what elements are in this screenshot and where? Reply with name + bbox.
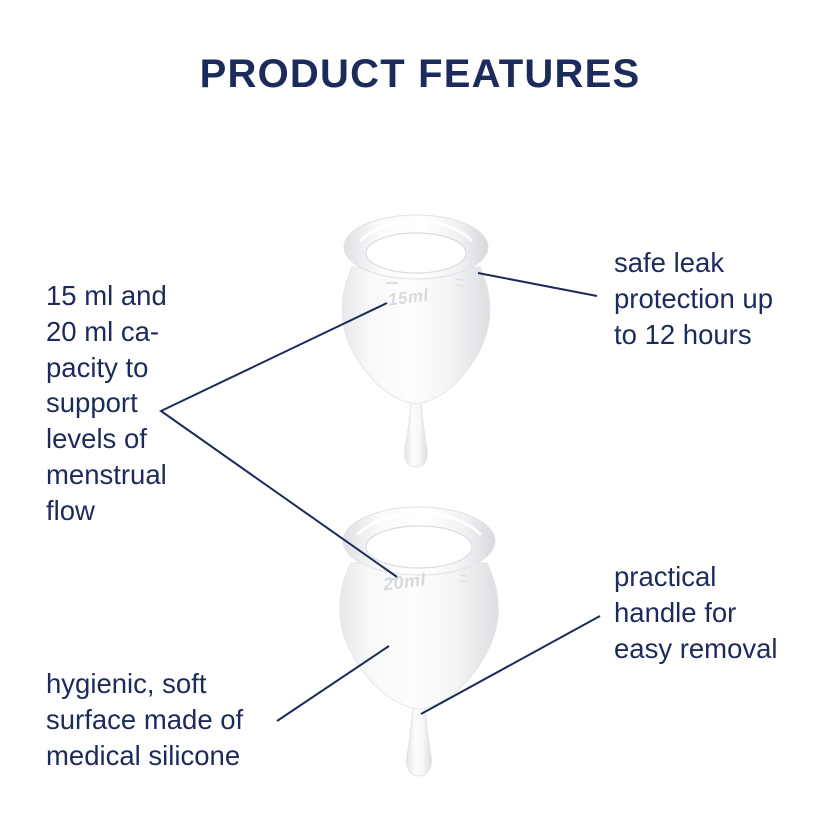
cup-rim-inner <box>366 526 472 568</box>
callout-handle: practical handle for easy removal <box>614 559 829 666</box>
callout-hygienic: hygienic, soft surface made of medical s… <box>46 666 296 773</box>
cup-stem <box>407 704 432 776</box>
callout-capacity: 15 ml and 20 ml ca- pacity to support le… <box>46 278 236 528</box>
page-title: PRODUCT FEATURES <box>0 52 840 96</box>
cup-rim-inner <box>366 233 466 273</box>
cup-stem <box>405 400 428 467</box>
callout-leak-protection: safe leak protection up to 12 hours <box>614 245 829 352</box>
product-image-cup-15ml <box>330 205 520 475</box>
product-features-infographic: PRODUCT FEATURES <box>0 0 840 840</box>
product-image-cup-20ml <box>325 497 525 782</box>
